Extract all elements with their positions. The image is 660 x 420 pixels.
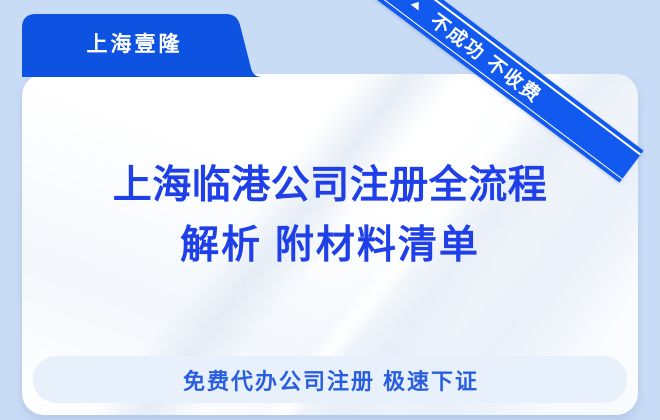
- poster-canvas: 上海壹隆 上海临港公司注册全流程 解析 附材料清单 免费代办公司注册 极速下证 …: [0, 0, 660, 420]
- page-title: 上海临港公司注册全流程 解析 附材料清单: [22, 156, 638, 277]
- page-title-line-1: 上海临港公司注册全流程: [22, 156, 638, 216]
- triangle-up-icon: [411, 0, 423, 11]
- brand-tab[interactable]: 上海壹隆: [22, 14, 272, 77]
- brand-tab-label: 上海壹隆: [22, 14, 244, 72]
- cta-bar-label: 免费代办公司注册 极速下证: [181, 364, 479, 396]
- page-title-line-2: 解析 附材料清单: [22, 216, 638, 276]
- cta-bar[interactable]: 免费代办公司注册 极速下证: [33, 356, 627, 403]
